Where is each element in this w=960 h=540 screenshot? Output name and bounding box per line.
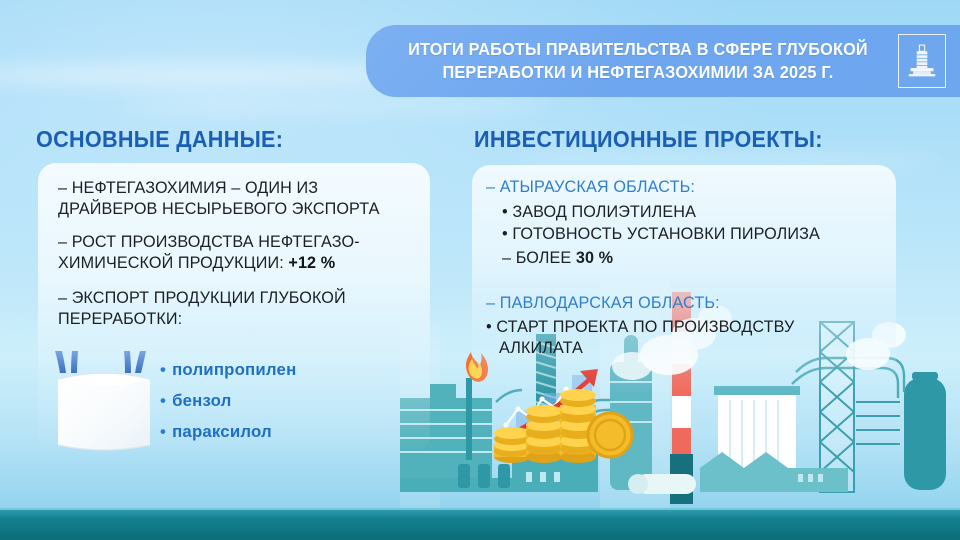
- product-label: параксилол: [172, 422, 272, 441]
- cloud-streak-icon: [120, 96, 550, 114]
- header-banner: ИТОГИ РАБОТЫ ПРАВИТЕЛЬСТВА В СФЕРЕ ГЛУБО…: [366, 25, 960, 97]
- region-pavlodar-title: – ПАВЛОДАРСКАЯ ОБЛАСТЬ:: [486, 293, 720, 313]
- product-item-1: •полипропилен: [160, 360, 296, 380]
- horizontal-vessel-icon: [628, 474, 696, 494]
- left-section-title: ОСНОВНЫЕ ДАННЫЕ:: [36, 126, 283, 153]
- bag-straps-icon: [55, 351, 146, 373]
- right-section-title: ИНВЕСТИЦИОННЫЕ ПРОЕКТЫ:: [474, 126, 823, 153]
- standing-coin-icon: [588, 413, 632, 457]
- atyrau-item-2: • ГОТОВНОСТЬ УСТАНОВКИ ПИРОЛИЗА: [502, 224, 820, 245]
- coin-stack-small: [494, 427, 530, 463]
- product-item-3: •параксилол: [160, 422, 272, 442]
- ground-strip: [0, 510, 960, 540]
- page-title: ИТОГИ РАБОТЫ ПРАВИТЕЛЬСТВА В СФЕРЕ ГЛУБО…: [404, 38, 873, 84]
- atyrau-item-1: • ЗАВОД ПОЛИЭТИЛЕНА: [502, 202, 696, 223]
- readiness-prefix: – БОЛЕЕ: [502, 249, 576, 267]
- infographic-slide: ИТОГИ РАБОТЫ ПРАВИТЕЛЬСТВА В СФЕРЕ ГЛУБО…: [0, 0, 960, 540]
- government-building-icon: [898, 34, 946, 88]
- left-point-2: – РОСТ ПРОИЗВОДСТВА НЕФТЕГАЗО- ХИМИЧЕСКО…: [58, 232, 410, 273]
- readiness-value: 30 %: [576, 249, 613, 267]
- left-point-3-line1: – ЭКСПОРТ ПРОДУКЦИИ ГЛУБОКОЙ: [58, 289, 346, 307]
- atyrau-readiness: – БОЛЕЕ 30 %: [502, 248, 613, 269]
- left-point-1: – НЕФТЕГАЗОХИМИЯ – ОДИН ИЗ ДРАЙВЕРОВ НЕС…: [58, 178, 410, 219]
- storage-tank-icon: [904, 372, 946, 490]
- pavlodar-item-line1: • СТАРТ ПРОЕКТА ПО ПРОИЗВОДСТВУ: [486, 318, 794, 336]
- bullet-dot-icon: •: [160, 422, 166, 441]
- pavlodar-item-line2: АЛКИЛАТА: [486, 338, 583, 359]
- left-point-3-line2: ПЕРЕРАБОТКИ:: [58, 310, 182, 328]
- region-atyrau-title: – АТЫРАУСКАЯ ОБЛАСТЬ:: [486, 177, 695, 197]
- right-content-card: [472, 165, 896, 395]
- product-label: полипропилен: [172, 360, 296, 379]
- big-bag-icon: [48, 345, 160, 465]
- pavlodar-item-1: • СТАРТ ПРОЕКТА ПО ПРОИЗВОДСТВУ АЛКИЛАТА: [486, 317, 886, 359]
- bullet-dot-icon: •: [160, 391, 166, 410]
- left-point-2-line2: ХИМИЧЕСКОЙ ПРОДУКЦИИ:: [58, 254, 288, 272]
- bullet-dot-icon: •: [160, 360, 166, 379]
- left-point-3: – ЭКСПОРТ ПРОДУКЦИИ ГЛУБОКОЙ ПЕРЕРАБОТКИ…: [58, 288, 410, 329]
- product-item-2: •бензол: [160, 391, 232, 411]
- product-label: бензол: [172, 391, 231, 410]
- left-point-2-line1: – РОСТ ПРОИЗВОДСТВА НЕФТЕГАЗО-: [58, 233, 360, 251]
- coin-stack-medium: [526, 405, 562, 463]
- growth-value: +12 %: [288, 254, 335, 272]
